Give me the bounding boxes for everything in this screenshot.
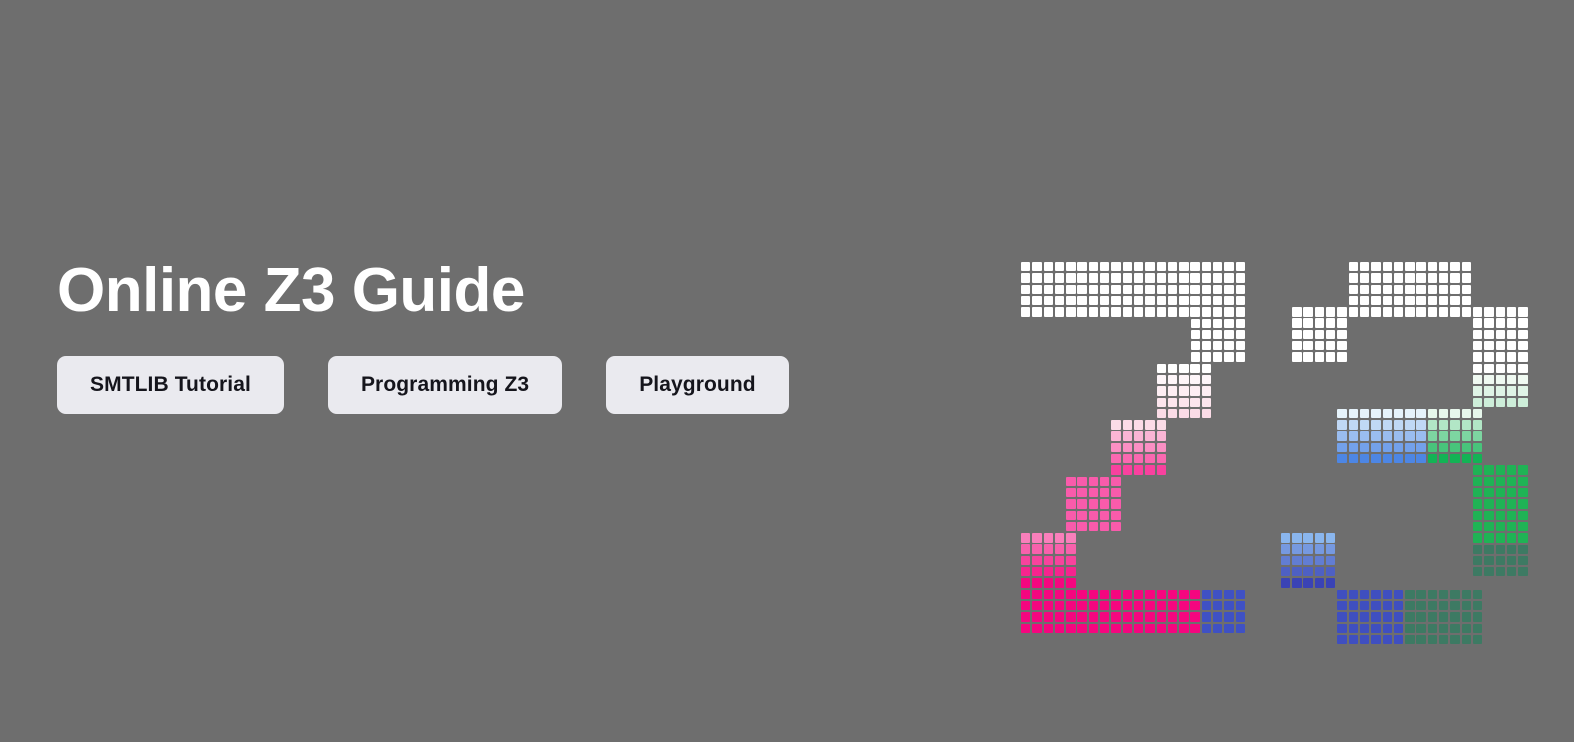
pixel-cell: [1405, 409, 1414, 418]
pixel-cell: [1281, 533, 1290, 542]
pixel-cell: [1066, 511, 1075, 520]
pixel-cell: [1507, 318, 1516, 327]
pixel-cell: [1507, 341, 1516, 350]
pixel-cell: [1507, 556, 1516, 565]
pixel-cell: [1044, 285, 1053, 294]
pixel-cell: [1100, 488, 1109, 497]
pixel-cell: [1021, 578, 1030, 587]
pixel-cell: [1405, 590, 1414, 599]
pixel-cell: [1303, 533, 1312, 542]
pixel-cell: [1077, 296, 1086, 305]
pixel-cell: [1405, 262, 1414, 271]
pixel-cell: [1111, 420, 1120, 429]
pixel-cell: [1134, 285, 1143, 294]
pixel-cell: [1518, 318, 1527, 327]
pixel-cell: [1145, 307, 1154, 316]
pixel-cell: [1134, 262, 1143, 271]
pixel-cell: [1416, 624, 1425, 633]
pixel-cell: [1157, 601, 1166, 610]
pixel-cell: [1360, 307, 1369, 316]
pixel-cell: [1303, 567, 1312, 576]
pixel-cell: [1462, 635, 1471, 644]
pixel-cell: [1473, 443, 1482, 452]
pixel-cell: [1111, 590, 1120, 599]
pixel-cell: [1416, 454, 1425, 463]
pixel-cell: [1111, 262, 1120, 271]
pixel-cell: [1123, 454, 1132, 463]
pixel-cell: [1484, 375, 1493, 384]
pixel-cell: [1100, 262, 1109, 271]
pixel-cell: [1349, 635, 1358, 644]
pixel-cell: [1518, 477, 1527, 486]
pixel-cell: [1383, 262, 1392, 271]
pixel-cell: [1134, 624, 1143, 633]
pixel-cell: [1224, 319, 1233, 328]
pixel-cell: [1032, 307, 1041, 316]
pixel-cell: [1484, 341, 1493, 350]
pixel-cell: [1450, 273, 1459, 282]
pixel-cell: [1405, 601, 1414, 610]
pixel-cell: [1315, 556, 1324, 565]
pixel-cell: [1303, 330, 1312, 339]
pixel-cell: [1190, 409, 1199, 418]
pixel-cell: [1168, 612, 1177, 621]
pixel-cell: [1496, 567, 1505, 576]
pixel-cell: [1439, 590, 1448, 599]
pixel-cell: [1383, 601, 1392, 610]
pixel-cell: [1066, 296, 1075, 305]
pixel-cell: [1190, 375, 1199, 384]
playground-button[interactable]: Playground: [606, 356, 789, 414]
pixel-cell: [1394, 296, 1403, 305]
pixel-cell: [1202, 409, 1211, 418]
pixel-cell: [1191, 352, 1200, 361]
smtlib-tutorial-button[interactable]: SMTLIB Tutorial: [57, 356, 284, 414]
pixel-cell: [1236, 590, 1245, 599]
pixel-cell: [1326, 544, 1335, 553]
pixel-cell: [1032, 285, 1041, 294]
pixel-cell: [1032, 567, 1041, 576]
pixel-cell: [1292, 341, 1301, 350]
pixel-cell: [1394, 409, 1403, 418]
pixel-cell: [1360, 624, 1369, 633]
pixel-cell: [1337, 341, 1346, 350]
pixel-cell: [1394, 635, 1403, 644]
pixel-cell: [1473, 612, 1482, 621]
pixel-cell: [1134, 296, 1143, 305]
pixel-cell: [1473, 465, 1482, 474]
seven-step-3: [1066, 477, 1123, 534]
pixel-cell: [1371, 273, 1380, 282]
pixel-cell: [1190, 364, 1199, 373]
pixel-cell: [1462, 296, 1471, 305]
pixel-cell: [1134, 612, 1143, 621]
pixel-cell: [1077, 285, 1086, 294]
pixel-cell: [1100, 273, 1109, 282]
pixel-cell: [1383, 624, 1392, 633]
pixel-cell: [1066, 262, 1075, 271]
pixel-cell: [1100, 590, 1109, 599]
pixel-cell: [1168, 409, 1177, 418]
pixel-cell: [1100, 624, 1109, 633]
pixel-cell: [1473, 488, 1482, 497]
pixel-cell: [1462, 431, 1471, 440]
pixel-cell: [1055, 601, 1064, 610]
pixel-cell: [1111, 454, 1120, 463]
pixel-cell: [1507, 398, 1516, 407]
pixel-cell: [1032, 273, 1041, 282]
pixel-cell: [1236, 319, 1245, 328]
pixel-cell: [1100, 612, 1109, 621]
seven-step-4: [1021, 533, 1078, 590]
pixel-cell: [1111, 624, 1120, 633]
pixel-cell: [1077, 612, 1086, 621]
pixel-cell: [1236, 624, 1245, 633]
pixel-cell: [1416, 612, 1425, 621]
pixel-cell: [1202, 612, 1211, 621]
pixel-cell: [1145, 431, 1154, 440]
pixel-cell: [1371, 443, 1380, 452]
pixel-cell: [1484, 398, 1493, 407]
pixel-cell: [1428, 612, 1437, 621]
pixel-cell: [1236, 341, 1245, 350]
pixel-cell: [1496, 352, 1505, 361]
pixel-cell: [1337, 307, 1346, 316]
pixel-cell: [1202, 624, 1211, 633]
pixel-cell: [1518, 511, 1527, 520]
seven-upper-stem: [1191, 319, 1248, 364]
pixel-cell: [1044, 567, 1053, 576]
pixel-cell: [1360, 262, 1369, 271]
pixel-cell: [1473, 590, 1482, 599]
seven-top-bar: [1021, 262, 1247, 319]
pixel-cell: [1303, 318, 1312, 327]
pixel-cell: [1145, 420, 1154, 429]
pixel-cell: [1349, 454, 1358, 463]
pixel-cell: [1428, 624, 1437, 633]
pixel-cell: [1134, 307, 1143, 316]
three-lower-right-arm-dark: [1473, 545, 1530, 579]
pixel-cell: [1236, 285, 1245, 294]
pixel-cell: [1484, 545, 1493, 554]
pixel-cell: [1190, 386, 1199, 395]
pixel-cell: [1145, 601, 1154, 610]
pixel-cell: [1405, 296, 1414, 305]
pixel-cell: [1315, 330, 1324, 339]
pixel-cell: [1371, 307, 1380, 316]
pixel-cell: [1473, 431, 1482, 440]
pixel-cell: [1496, 511, 1505, 520]
pixel-cell: [1383, 612, 1392, 621]
pixel-cell: [1021, 590, 1030, 599]
pixel-cell: [1281, 544, 1290, 553]
pixel-cell: [1123, 590, 1132, 599]
pixel-cell: [1089, 273, 1098, 282]
pixel-cell: [1326, 318, 1335, 327]
pixel-cell: [1349, 420, 1358, 429]
pixel-cell: [1190, 590, 1199, 599]
pixel-cell: [1428, 443, 1437, 452]
pixel-cell: [1055, 624, 1064, 633]
pixel-cell: [1439, 443, 1448, 452]
pixel-cell: [1507, 545, 1516, 554]
pixel-cell: [1337, 409, 1346, 418]
pixel-cell: [1077, 499, 1086, 508]
pixel-cell: [1394, 431, 1403, 440]
pixel-cell: [1168, 364, 1177, 373]
pixel-cell: [1473, 601, 1482, 610]
pixel-cell: [1416, 273, 1425, 282]
pixel-cell: [1157, 409, 1166, 418]
pixel-cell: [1394, 307, 1403, 316]
pixel-cell: [1360, 454, 1369, 463]
pixel-cell: [1123, 420, 1132, 429]
pixel-cell: [1292, 330, 1301, 339]
pixel-cell: [1439, 601, 1448, 610]
pixel-cell: [1157, 454, 1166, 463]
pixel-cell: [1213, 612, 1222, 621]
pixel-cell: [1337, 330, 1346, 339]
pixel-cell: [1100, 296, 1109, 305]
pixel-cell: [1326, 307, 1335, 316]
pixel-cell: [1496, 375, 1505, 384]
pixel-cell: [1315, 318, 1324, 327]
pixel-cell: [1496, 533, 1505, 542]
pixel-cell: [1202, 398, 1211, 407]
pixel-cell: [1450, 285, 1459, 294]
pixel-cell: [1450, 454, 1459, 463]
pixel-cell: [1089, 511, 1098, 520]
pixel-cell: [1055, 544, 1064, 553]
pixel-cell: [1326, 533, 1335, 542]
pixel-cell: [1123, 296, 1132, 305]
pixel-cell: [1168, 296, 1177, 305]
pixel-cell: [1349, 285, 1358, 294]
programming-z3-button[interactable]: Programming Z3: [328, 356, 562, 414]
pixel-cell: [1439, 273, 1448, 282]
pixel-cell: [1405, 420, 1414, 429]
pixel-cell: [1383, 443, 1392, 452]
pixel-cell: [1405, 624, 1414, 633]
pixel-cell: [1337, 431, 1346, 440]
pixel-cell: [1337, 612, 1346, 621]
pixel-cell: [1326, 556, 1335, 565]
pixel-cell: [1123, 285, 1132, 294]
pixel-cell: [1349, 431, 1358, 440]
pixel-cell: [1518, 375, 1527, 384]
pixel-cell: [1157, 285, 1166, 294]
pixel-cell: [1394, 443, 1403, 452]
pixel-cell: [1123, 443, 1132, 452]
pixel-cell: [1281, 567, 1290, 576]
pixel-cell: [1168, 273, 1177, 282]
pixel-cell: [1315, 352, 1324, 361]
pixel-cell: [1518, 556, 1527, 565]
pixel-cell: [1315, 533, 1324, 542]
pixel-cell: [1416, 262, 1425, 271]
pixel-cell: [1462, 285, 1471, 294]
pixel-cell: [1157, 375, 1166, 384]
pixel-cell: [1507, 352, 1516, 361]
pixel-cell: [1134, 590, 1143, 599]
pixel-cell: [1179, 285, 1188, 294]
pixel-cell: [1349, 443, 1358, 452]
pixel-cell: [1428, 296, 1437, 305]
pixel-cell: [1179, 262, 1188, 271]
pixel-cell: [1190, 612, 1199, 621]
pixel-cell: [1157, 420, 1166, 429]
pixel-cell: [1473, 545, 1482, 554]
pixel-cell: [1202, 319, 1211, 328]
pixel-cell: [1213, 352, 1222, 361]
pixel-cell: [1202, 330, 1211, 339]
pixel-cell: [1044, 262, 1053, 271]
pixel-cell: [1371, 296, 1380, 305]
page-title: Online Z3 Guide: [57, 258, 957, 323]
pixel-cell: [1518, 499, 1527, 508]
pixel-cell: [1213, 296, 1222, 305]
pixel-cell: [1168, 285, 1177, 294]
pixel-cell: [1077, 601, 1086, 610]
pixel-cell: [1077, 488, 1086, 497]
seven-bottom-bar-blue: [1202, 590, 1247, 635]
seven-step-1: [1157, 364, 1214, 421]
pixel-cell: [1439, 285, 1448, 294]
pixel-cell: [1450, 612, 1459, 621]
pixel-cell: [1123, 431, 1132, 440]
pixel-cell: [1100, 307, 1109, 316]
pixel-cell: [1518, 465, 1527, 474]
pixel-cell: [1145, 624, 1154, 633]
pixel-cell: [1202, 341, 1211, 350]
pixel-cell: [1168, 601, 1177, 610]
pixel-cell: [1473, 533, 1482, 542]
pixel-cell: [1021, 262, 1030, 271]
pixel-cell: [1473, 409, 1482, 418]
pixel-cell: [1428, 262, 1437, 271]
pixel-cell: [1518, 522, 1527, 531]
pixel-cell: [1484, 386, 1493, 395]
hero-text-column: Online Z3 Guide SMTLIB Tutorial Programm…: [57, 258, 957, 414]
three-mid-bar-blue: [1337, 409, 1427, 466]
pixel-cell: [1111, 296, 1120, 305]
cta-button-row: SMTLIB Tutorial Programming Z3 Playgroun…: [57, 356, 957, 414]
pixel-cell: [1236, 262, 1245, 271]
pixel-cell: [1089, 296, 1098, 305]
pixel-cell: [1473, 567, 1482, 576]
pixel-cell: [1337, 601, 1346, 610]
pixel-cell: [1236, 601, 1245, 610]
pixel-cell: [1462, 443, 1471, 452]
pixel-cell: [1179, 398, 1188, 407]
pixel-cell: [1326, 341, 1335, 350]
pixel-cell: [1371, 590, 1380, 599]
pixel-cell: [1439, 431, 1448, 440]
pixel-cell: [1394, 262, 1403, 271]
pixel-cell: [1134, 443, 1143, 452]
pixel-cell: [1077, 624, 1086, 633]
pixel-cell: [1394, 273, 1403, 282]
pixel-cell: [1190, 398, 1199, 407]
pixel-cell: [1507, 465, 1516, 474]
pixel-cell: [1428, 307, 1437, 316]
pixel-cell: [1111, 273, 1120, 282]
pixel-cell: [1450, 635, 1459, 644]
pixel-cell: [1224, 285, 1233, 294]
pixel-cell: [1462, 612, 1471, 621]
pixel-cell: [1089, 262, 1098, 271]
pixel-cell: [1157, 465, 1166, 474]
pixel-cell: [1450, 590, 1459, 599]
pixel-cell: [1157, 398, 1166, 407]
pixel-cell: [1111, 431, 1120, 440]
pixel-cell: [1507, 330, 1516, 339]
pixel-cell: [1507, 533, 1516, 542]
pixel-cell: [1518, 341, 1527, 350]
pixel-cell: [1405, 307, 1414, 316]
pixel-cell: [1405, 635, 1414, 644]
pixel-cell: [1416, 285, 1425, 294]
pixel-cell: [1224, 624, 1233, 633]
pixel-cell: [1484, 465, 1493, 474]
pixel-cell: [1190, 262, 1199, 271]
pixel-cell: [1326, 352, 1335, 361]
pixel-cell: [1292, 544, 1301, 553]
pixel-cell: [1496, 556, 1505, 565]
pixel-cell: [1066, 477, 1075, 486]
pixel-cell: [1066, 488, 1075, 497]
pixel-cell: [1405, 431, 1414, 440]
pixel-cell: [1428, 420, 1437, 429]
three-bottom-bar-green: [1405, 590, 1484, 647]
pixel-cell: [1089, 499, 1098, 508]
pixel-cell: [1190, 307, 1199, 316]
pixel-cell: [1055, 285, 1064, 294]
pixel-cell: [1383, 431, 1392, 440]
pixel-cell: [1224, 352, 1233, 361]
pixel-cell: [1394, 601, 1403, 610]
pixel-cell: [1416, 601, 1425, 610]
pixel-cell: [1224, 262, 1233, 271]
pixel-cell: [1123, 601, 1132, 610]
pixel-cell: [1044, 533, 1053, 542]
pixel-cell: [1134, 601, 1143, 610]
pixel-cell: [1066, 624, 1075, 633]
pixel-cell: [1202, 601, 1211, 610]
pixel-cell: [1303, 341, 1312, 350]
pixel-cell: [1518, 533, 1527, 542]
pixel-cell: [1371, 454, 1380, 463]
pixel-cell: [1179, 590, 1188, 599]
pixel-cell: [1179, 386, 1188, 395]
pixel-cell: [1066, 307, 1075, 316]
pixel-cell: [1236, 612, 1245, 621]
pixel-cell: [1484, 330, 1493, 339]
pixel-cell: [1145, 590, 1154, 599]
pixel-cell: [1021, 556, 1030, 565]
pixel-cell: [1202, 273, 1211, 282]
pixel-cell: [1507, 499, 1516, 508]
pixel-cell: [1484, 556, 1493, 565]
pixel-cell: [1518, 567, 1527, 576]
pixel-cell: [1157, 296, 1166, 305]
pixel-cell: [1157, 612, 1166, 621]
pixel-cell: [1518, 398, 1527, 407]
pixel-cell: [1496, 488, 1505, 497]
pixel-cell: [1315, 567, 1324, 576]
pixel-cell: [1021, 307, 1030, 316]
pixel-cell: [1416, 431, 1425, 440]
